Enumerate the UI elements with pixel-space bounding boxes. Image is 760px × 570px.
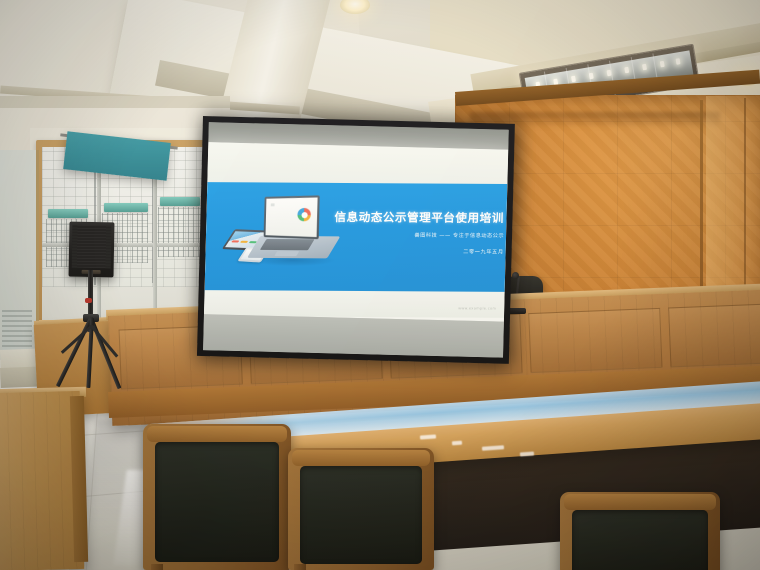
chair-leg bbox=[294, 564, 306, 570]
left-wall-band bbox=[0, 96, 230, 108]
projected-slide: 信息动态公示管理平台使用培训 善图科技 —— 专注于信息动态公示 二零一九年五月… bbox=[204, 142, 508, 322]
slide-illustration bbox=[227, 194, 339, 273]
ac-unit-icon bbox=[160, 197, 200, 206]
chair-top-rail bbox=[147, 426, 287, 442]
chair-back-pad bbox=[155, 442, 279, 562]
laptop-trackpad bbox=[274, 251, 299, 256]
chair-top-rail bbox=[564, 494, 716, 510]
donut-chart-icon bbox=[297, 208, 311, 221]
table-reflection-highlight bbox=[452, 441, 462, 446]
donut-hole bbox=[301, 212, 307, 218]
ac-unit-icon bbox=[104, 203, 148, 212]
display-placeholder bbox=[271, 203, 275, 206]
screen-surface: 信息动态公示管理平台使用培训 善图科技 —— 专注于信息动态公示 二零一九年五月… bbox=[203, 122, 509, 358]
laptop-base bbox=[247, 236, 340, 258]
slide-title: 信息动态公示管理平台使用培训 bbox=[334, 209, 502, 226]
speaker-grille bbox=[72, 225, 112, 269]
slide-date: 二零一九年五月 bbox=[386, 248, 504, 256]
lamp-icon bbox=[660, 61, 665, 68]
lamp-icon bbox=[571, 76, 576, 83]
projection-screen[interactable]: 信息动态公示管理平台使用培训 善图科技 —— 专注于信息动态公示 二零一九年五月… bbox=[197, 116, 515, 364]
laptop-keyboard bbox=[260, 239, 315, 250]
lamp-icon bbox=[642, 64, 647, 71]
lamp-icon bbox=[624, 67, 629, 74]
window-cage bbox=[158, 207, 202, 257]
ac-unit-icon bbox=[48, 209, 88, 218]
tripod-knob[interactable] bbox=[85, 298, 92, 303]
chair-back-pad bbox=[300, 466, 422, 564]
laptop-display bbox=[265, 197, 317, 237]
room-scene: 信息动态公示管理平台使用培训 善图科技 —— 专注于信息动态公示 二零一九年五月… bbox=[0, 0, 760, 570]
chair-leg bbox=[151, 564, 163, 570]
chart-bar bbox=[240, 241, 248, 243]
slide-watermark: www.example.com bbox=[400, 306, 496, 311]
slide-bottom-band bbox=[204, 290, 505, 318]
chart-bar bbox=[231, 240, 239, 242]
slide-subtitle: 善图科技 —— 专注于信息动态公示 bbox=[356, 231, 504, 239]
chair-back-pad bbox=[572, 510, 708, 570]
dais-panel bbox=[668, 304, 760, 368]
lamp-icon bbox=[676, 58, 681, 65]
screen-band-bottom bbox=[203, 314, 504, 358]
chair-top-rail bbox=[292, 450, 430, 466]
dais-panel bbox=[528, 308, 662, 373]
laptop-icon bbox=[264, 195, 320, 239]
